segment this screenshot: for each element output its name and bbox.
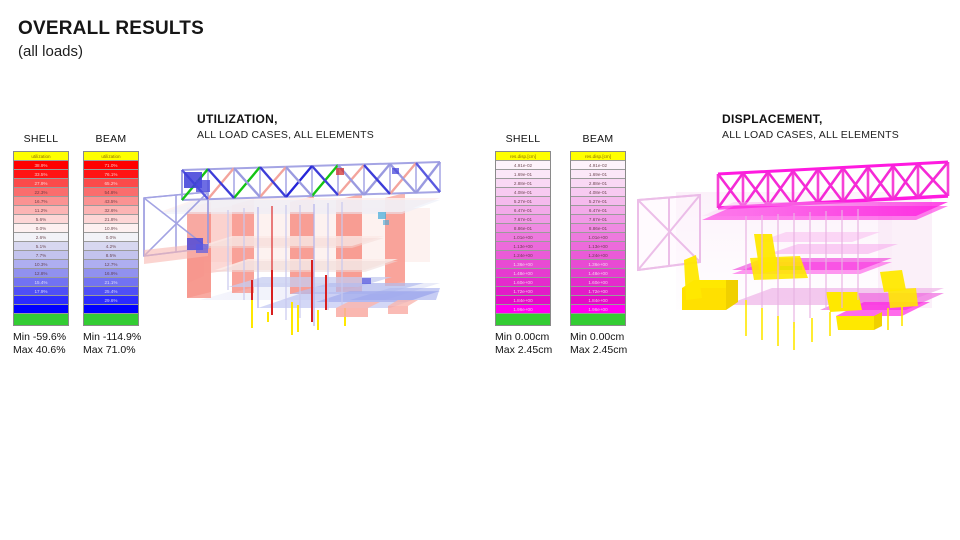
legend-band: 76.1% <box>84 170 138 179</box>
legend-band <box>14 305 68 314</box>
legend-colorbar-utilization-shell: utilization38.9%33.5%27.9%22.3%16.7%11.2… <box>13 151 69 326</box>
legend-quantity-header: utilization <box>84 152 138 161</box>
legend-endcap-band <box>84 314 138 325</box>
legend-colorbar-utilization-beam: utilization71.0%76.1%65.2%54.8%43.5%32.6… <box>83 151 139 326</box>
legend-band: 1.60e+00 <box>496 278 550 287</box>
legend-band: 1.01e+00 <box>571 233 625 242</box>
legend-quantity-header: res.disp.[cm] <box>571 152 625 161</box>
page-title: OVERALL RESULTS <box>18 18 204 40</box>
legend-band: 4.2% <box>84 242 138 251</box>
legend-max-utilization-shell: Max 40.6% <box>13 344 69 357</box>
legend-utilization-beam: BEAM utilization71.0%76.1%65.2%54.8%43.5… <box>83 133 139 357</box>
legend-max-utilization-beam: Max 71.0% <box>83 344 139 357</box>
legend-band: 4.91e-02 <box>571 161 625 170</box>
slide-canvas: OVERALL RESULTS (all loads) UTILIZATION,… <box>0 0 960 540</box>
legend-band: 6.47e-01 <box>571 206 625 215</box>
legend-band: 22.3% <box>14 188 68 197</box>
legend-band: 1.48e+00 <box>496 269 550 278</box>
legend-quantity-header: utilization <box>14 152 68 161</box>
legend-band: 1.69e-01 <box>571 170 625 179</box>
legend-endcap-band <box>496 314 550 325</box>
legend-min-utilization-beam: Min -114.9% <box>83 331 139 344</box>
legend-utilization-shell: SHELL utilization38.9%33.5%27.9%22.3%16.… <box>13 133 69 357</box>
legend-band: 1.24e+00 <box>571 251 625 260</box>
legend-max-displacement-shell: Max 2.45cm <box>495 344 551 357</box>
legend-endcap-band <box>14 314 68 325</box>
legend-band: 1.24e+00 <box>496 251 550 260</box>
legend-colorbar-displacement-beam: res.disp.[cm]4.91e-021.69e-012.88e-014.0… <box>570 151 626 326</box>
legend-band: 1.36e+00 <box>496 260 550 269</box>
legend-displacement-shell: SHELL res.disp.[cm]4.91e-021.69e-012.88e… <box>495 133 551 357</box>
legend-band: 65.2% <box>84 179 138 188</box>
legend-band: 1.84e+00 <box>571 296 625 305</box>
legend-band: 38.9% <box>14 161 68 170</box>
legend-band: 12.7% <box>84 260 138 269</box>
section-title-displacement: DISPLACEMENT, <box>722 112 899 127</box>
legend-band: 21.1% <box>84 278 138 287</box>
legend-band: 10.9% <box>84 224 138 233</box>
legend-band: 21.8% <box>84 215 138 224</box>
utilization-3d-model[interactable] <box>140 150 450 345</box>
legend-min-utilization-shell: Min -59.6% <box>13 331 69 344</box>
legend-band <box>14 296 68 305</box>
legend-band: 1.13e+00 <box>571 242 625 251</box>
page-title-block: OVERALL RESULTS (all loads) <box>18 18 204 62</box>
legend-band: 25.4% <box>84 287 138 296</box>
legend-endcap-band <box>571 314 625 325</box>
legend-band: 27.9% <box>14 179 68 188</box>
legend-band: 1.13e+00 <box>496 242 550 251</box>
legend-band: 10.3% <box>14 260 68 269</box>
legend-band: 12.8% <box>14 269 68 278</box>
legend-band: 54.8% <box>84 188 138 197</box>
legend-band: 1.36e+00 <box>571 260 625 269</box>
legend-group-label-shell-disp: SHELL <box>495 133 551 145</box>
legend-band: 11.2% <box>14 206 68 215</box>
legend-min-displacement-shell: Min 0.00cm <box>495 331 551 344</box>
legend-quantity-header: res.disp.[cm] <box>496 152 550 161</box>
legend-band: 4.08e-01 <box>496 188 550 197</box>
legend-band: 5.27e-01 <box>571 197 625 206</box>
legend-band: 2.6% <box>14 233 68 242</box>
legend-band: 71.0% <box>84 161 138 170</box>
utilization-model-svg <box>140 150 450 345</box>
displacement-3d-model[interactable] <box>630 150 950 355</box>
legend-band: 1.60e+00 <box>571 278 625 287</box>
legend-band: 4.08e-01 <box>571 188 625 197</box>
legend-colorbar-displacement-shell: res.disp.[cm]4.91e-021.69e-012.88e-014.0… <box>495 151 551 326</box>
section-heading-displacement: DISPLACEMENT, ALL LOAD CASES, ALL ELEMEN… <box>722 112 899 142</box>
legend-band: 33.5% <box>14 170 68 179</box>
legend-band: 1.69e-01 <box>496 170 550 179</box>
legend-band: 0.0% <box>14 224 68 233</box>
page-subtitle: (all loads) <box>18 42 204 62</box>
legend-band: 5.6% <box>14 215 68 224</box>
section-heading-utilization: UTILIZATION, ALL LOAD CASES, ALL ELEMENT… <box>197 112 374 142</box>
legend-band: 2.88e-01 <box>571 179 625 188</box>
legend-band: 1.96e+00 <box>571 305 625 314</box>
legend-group-label-beam-disp: BEAM <box>570 133 626 145</box>
legend-band: 8.86e-01 <box>571 224 625 233</box>
legend-group-label-beam-util: BEAM <box>83 133 139 145</box>
legend-band: 17.9% <box>14 287 68 296</box>
legend-band: 1.96e+00 <box>496 305 550 314</box>
legend-band: 0.0% <box>84 233 138 242</box>
section-title-utilization: UTILIZATION, <box>197 112 374 127</box>
legend-band: 8.5% <box>84 251 138 260</box>
legend-band: 6.47e-01 <box>496 206 550 215</box>
legend-band: 1.01e+00 <box>496 233 550 242</box>
legend-band: 7.67e-01 <box>496 215 550 224</box>
legend-band: 1.72e+00 <box>571 287 625 296</box>
legend-band: 16.9% <box>84 269 138 278</box>
legend-max-displacement-beam: Max 2.45cm <box>570 344 626 357</box>
legend-band: 1.84e+00 <box>496 296 550 305</box>
legend-band: 4.91e-02 <box>496 161 550 170</box>
legend-band: 5.1% <box>14 242 68 251</box>
legend-min-displacement-beam: Min 0.00cm <box>570 331 626 344</box>
legend-band: 1.48e+00 <box>571 269 625 278</box>
legend-band: 8.86e-01 <box>496 224 550 233</box>
legend-band: 16.7% <box>14 197 68 206</box>
section-subtitle-displacement: ALL LOAD CASES, ALL ELEMENTS <box>722 128 899 142</box>
legend-band: 1.72e+00 <box>496 287 550 296</box>
legend-band: 43.5% <box>84 197 138 206</box>
legend-band: 7.67e-01 <box>571 215 625 224</box>
legend-band: 5.27e-01 <box>496 197 550 206</box>
legend-band: 29.6% <box>84 296 138 305</box>
legend-displacement-beam: BEAM res.disp.[cm]4.91e-021.69e-012.88e-… <box>570 133 626 357</box>
legend-band: 15.4% <box>14 278 68 287</box>
legend-band: 32.6% <box>84 206 138 215</box>
legend-band <box>84 305 138 314</box>
legend-group-label-shell-util: SHELL <box>13 133 69 145</box>
legend-band: 7.7% <box>14 251 68 260</box>
displacement-model-svg <box>630 150 950 355</box>
section-subtitle-utilization: ALL LOAD CASES, ALL ELEMENTS <box>197 128 374 142</box>
legend-band: 2.88e-01 <box>496 179 550 188</box>
